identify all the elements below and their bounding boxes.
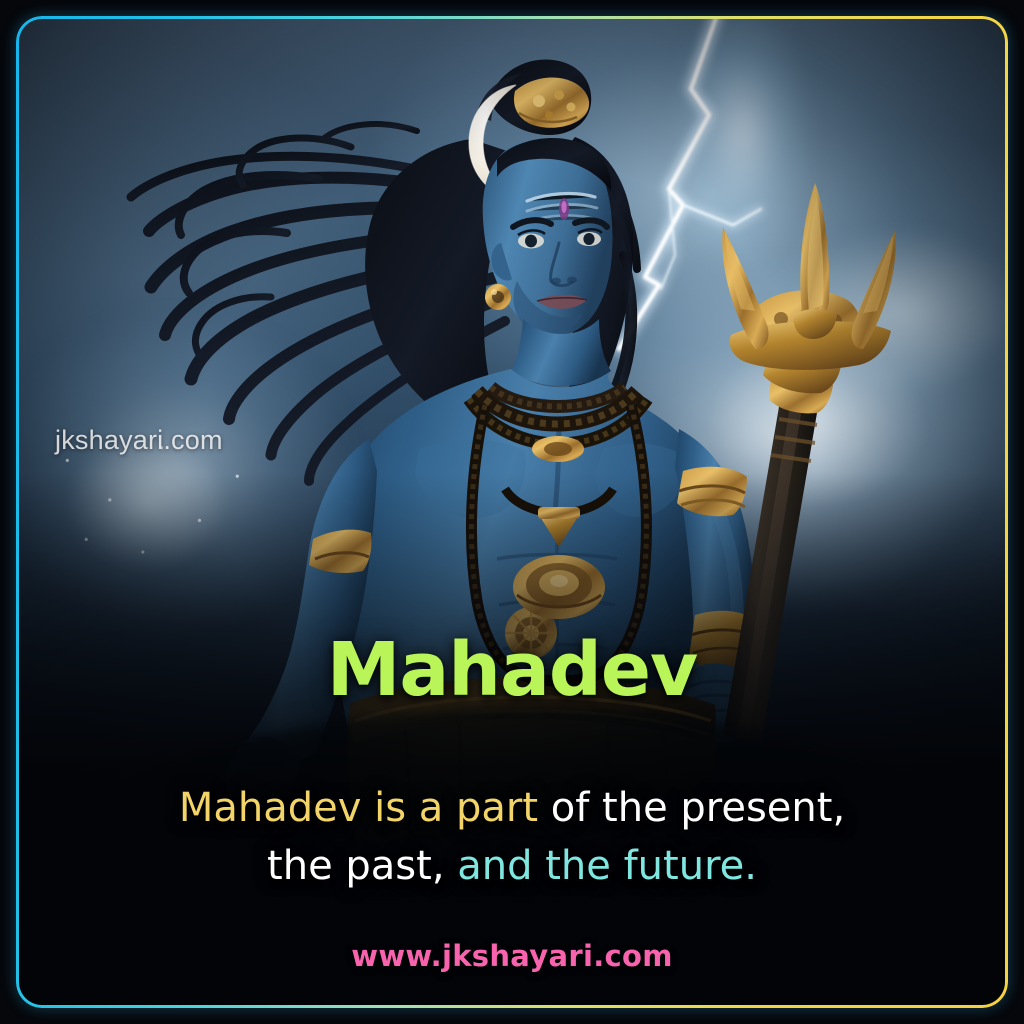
- quote-plain-2: the past,: [267, 843, 457, 889]
- quote-plain-1: of the present,: [538, 785, 845, 831]
- quote-highlight-gold: Mahadev is a part: [179, 785, 538, 831]
- shiva-quote-poster: jkshayari.com Mahadev Mahadev is a part …: [0, 0, 1024, 1024]
- quote-line-2: the past, and the future.: [19, 837, 1005, 895]
- quote-line-1: Mahadev is a part of the present,: [19, 779, 1005, 837]
- watermark-text: jkshayari.com: [55, 425, 223, 456]
- artwork-canvas: jkshayari.com Mahadev Mahadev is a part …: [19, 19, 1005, 1005]
- text-layer: jkshayari.com Mahadev Mahadev is a part …: [19, 19, 1005, 1005]
- quote-text: Mahadev is a part of the present, the pa…: [19, 779, 1005, 895]
- quote-highlight-aqua: and the future.: [457, 843, 757, 889]
- page-title: Mahadev: [19, 627, 1005, 713]
- footer-website-url[interactable]: www.jkshayari.com: [19, 939, 1005, 973]
